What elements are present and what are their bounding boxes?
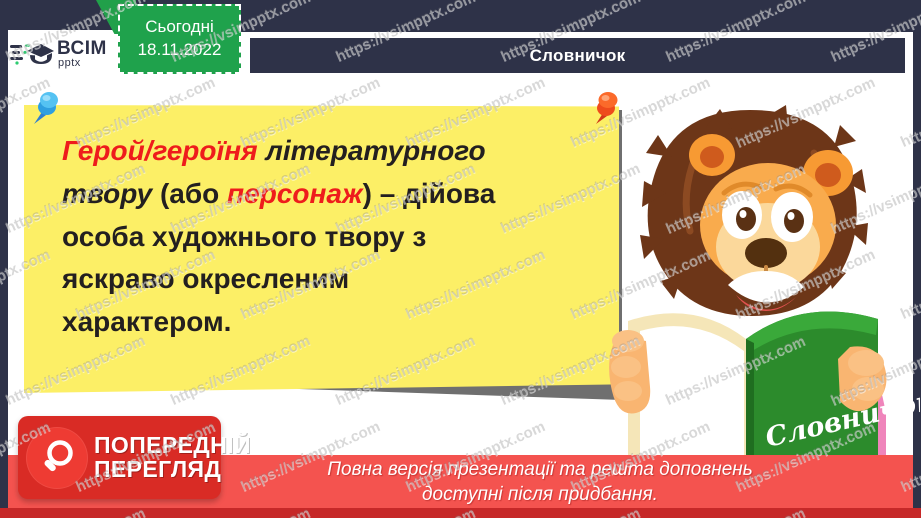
magnifier-icon (26, 427, 88, 489)
lion-reading-book-illustration: Словничок (600, 95, 920, 470)
today-label: Сьогодні (145, 16, 214, 39)
brand-logo[interactable]: ВСІМ pptx (10, 32, 114, 76)
slide-title-bar: Словничок (250, 38, 905, 73)
brand-sub: pptx (58, 58, 107, 68)
note-line-3: особа художнього твору з (62, 216, 592, 259)
preview-badge-line-1: ПОПЕРЕДНІЙ (94, 434, 251, 457)
note-text-3: особа художнього твору з (62, 221, 426, 252)
preview-badge[interactable]: ПОПЕРЕДНІЙ ПЕРЕГЛЯД (18, 416, 221, 499)
today-date: 18.11.2022 (138, 39, 222, 62)
page-title: Словничок (530, 46, 626, 66)
note-text-1b: літературного (265, 135, 485, 166)
note-text-2d: ) – дійова (363, 178, 496, 209)
note-text-5: характером. (62, 306, 231, 337)
term-character: персонаж (227, 178, 363, 209)
blue-pushpin-icon (28, 88, 62, 128)
purchase-notice-line-2: доступні після придбання. (230, 482, 850, 507)
brand-name: ВСІМ (57, 40, 107, 57)
note-text: Герой/героїня літературного твору (або п… (62, 130, 592, 344)
note-text-4: яскраво окресленим (62, 263, 349, 294)
note-line-1: Герой/героїня літературного (62, 130, 592, 173)
graduation-cap-icon (10, 39, 54, 69)
today-date-badge: Сьогодні 18.11.2022 (118, 4, 241, 74)
purchase-notice-line-1: Повна версія презентації та решта доповн… (230, 457, 850, 482)
note-line-4: яскраво окресленим (62, 258, 592, 301)
slide-canvas: ВСІМ pptx Сьогодні 18.11.2022 Словничок … (0, 0, 921, 518)
term-hero: Герой/героїня (62, 135, 265, 166)
purchase-notice: Повна версія презентації та решта доповн… (230, 457, 850, 507)
note-text-2a: твору (62, 178, 160, 209)
note-line-5: характером. (62, 301, 592, 344)
note-text-2b: (або (160, 178, 227, 209)
preview-badge-line-2: ПЕРЕГЛЯД (94, 458, 251, 481)
note-line-2: твору (або персонаж) – дійова (62, 173, 592, 216)
bottom-banner-edge (0, 508, 921, 518)
